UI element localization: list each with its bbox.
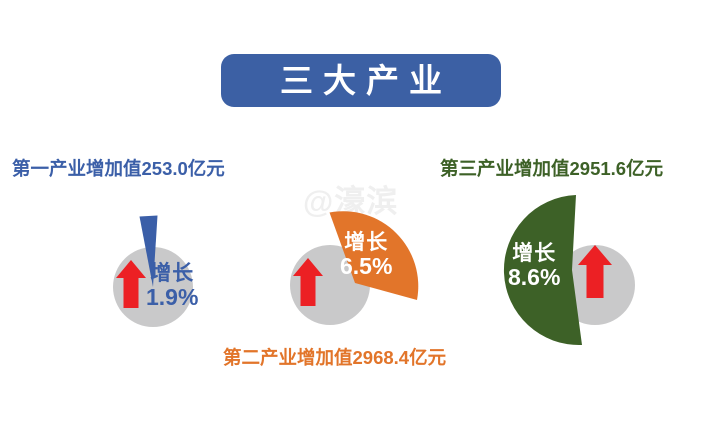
pie-chart-third-industry bbox=[466, 190, 666, 360]
title-banner: 三大产业 bbox=[221, 54, 501, 107]
growth-wedge-third bbox=[504, 195, 582, 345]
infographic-canvas: 三大产业 @濠滨 第一产业增加值253.0亿元 第三产业增加值2951.6亿元 … bbox=[0, 0, 720, 428]
caption-first-industry: 第一产业增加值253.0亿元 bbox=[12, 160, 225, 179]
pie-chart-first-industry bbox=[78, 190, 278, 350]
page-title: 三大产业 bbox=[270, 64, 452, 97]
caption-third-industry: 第三产业增加值2951.6亿元 bbox=[440, 160, 663, 179]
pie-chart-second-industry bbox=[258, 190, 468, 360]
